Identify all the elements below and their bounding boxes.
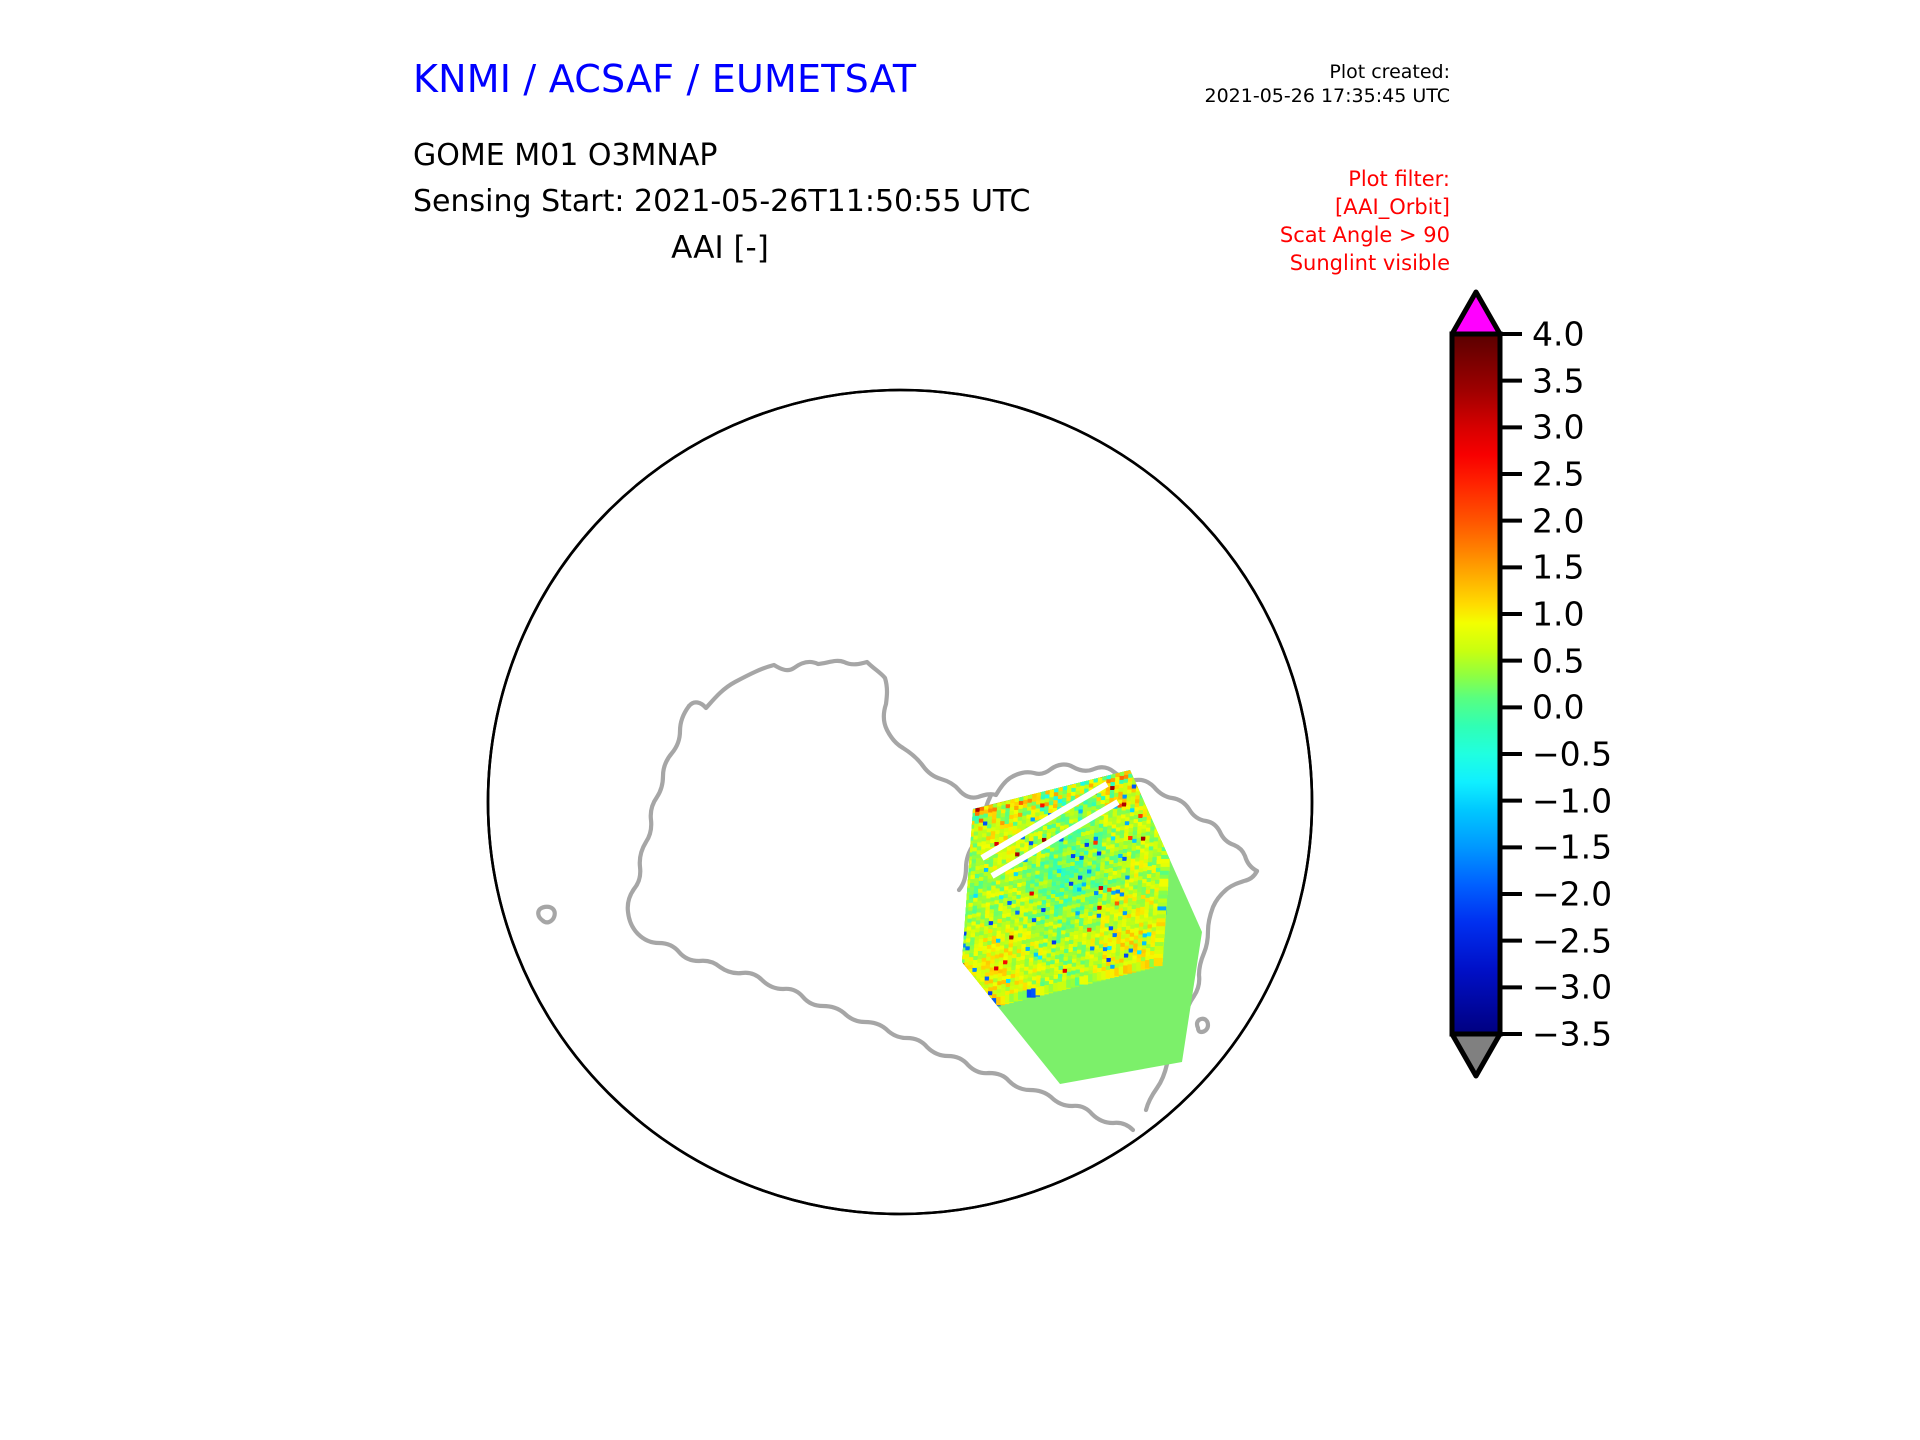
colorbar-tick-label: 3.5 xyxy=(1532,361,1584,400)
dataset-name: GOME M01 O3MNAP xyxy=(413,138,717,173)
colorbar-tick-labels: 4.03.53.02.52.01.51.00.50.0−0.5−1.0−1.5−… xyxy=(1532,284,1772,1104)
colorbar-under-arrow xyxy=(1452,1034,1500,1076)
globe-limb xyxy=(488,390,1312,1214)
colorbar: 4.03.53.02.52.01.51.00.50.0−0.5−1.0−1.5−… xyxy=(1436,284,1876,1104)
plot-created-block: Plot created: 2021-05-26 17:35:45 UTC xyxy=(1205,60,1451,109)
colorbar-tick-label: 4.0 xyxy=(1532,315,1584,354)
coastline-south-georgia xyxy=(1268,1027,1323,1059)
colorbar-over-arrow xyxy=(1452,292,1500,334)
colorbar-tick-label: −3.5 xyxy=(1532,1015,1612,1054)
coastline-new-zealand-south xyxy=(658,287,740,418)
colorbar-tick-label: 3.0 xyxy=(1532,408,1584,447)
colorbar-tick-label: −0.5 xyxy=(1532,735,1612,774)
colorbar-tick-label: 0.0 xyxy=(1532,688,1584,727)
colorbar-tick-label: −2.0 xyxy=(1532,875,1612,914)
colorbar-tick-label: 1.0 xyxy=(1532,595,1584,634)
plot-created-label: Plot created: xyxy=(1205,60,1451,84)
coastline-tasmania xyxy=(532,371,576,413)
organisation-title: KNMI / ACSAF / EUMETSAT xyxy=(413,57,916,101)
coastline-island-tasman xyxy=(489,319,512,339)
map-panel xyxy=(370,272,1430,1332)
plot-filter-block: Plot filter: [AAI_Orbit] Scat Angle > 90… xyxy=(1280,166,1450,278)
colorbar-tick-label: 2.0 xyxy=(1532,501,1584,540)
plot-filter-scat-angle: Scat Angle > 90 xyxy=(1280,222,1450,250)
colorbar-tick-label: −3.0 xyxy=(1532,968,1612,1007)
polar-map xyxy=(370,272,1430,1332)
sensing-start-label: Sensing Start: 2021-05-26T11:50:55 UTC xyxy=(413,184,1030,219)
colorbar-gradient xyxy=(1452,334,1500,1034)
colorbar-tick-label: 0.5 xyxy=(1532,641,1584,680)
plot-canvas: KNMI / ACSAF / EUMETSAT GOME M01 O3MNAP … xyxy=(0,0,1920,1440)
colorbar-tick-label: −1.5 xyxy=(1532,828,1612,867)
plot-filter-label: Plot filter: xyxy=(1280,166,1450,194)
plot-created-timestamp: 2021-05-26 17:35:45 UTC xyxy=(1205,84,1451,108)
coastline-new-zealand-north xyxy=(729,275,781,322)
plot-filter-name: [AAI_Orbit] xyxy=(1280,194,1450,222)
colorbar-tick-label: 1.5 xyxy=(1532,548,1584,587)
colorbar-ticks xyxy=(1500,334,1522,1034)
swath-pixel xyxy=(1154,958,1163,966)
colorbar-tick-label: −1.0 xyxy=(1532,781,1612,820)
colorbar-tick-label: 2.5 xyxy=(1532,455,1584,494)
page-title: AAI [-] xyxy=(0,230,1440,266)
colorbar-tick-label: −2.5 xyxy=(1532,921,1612,960)
